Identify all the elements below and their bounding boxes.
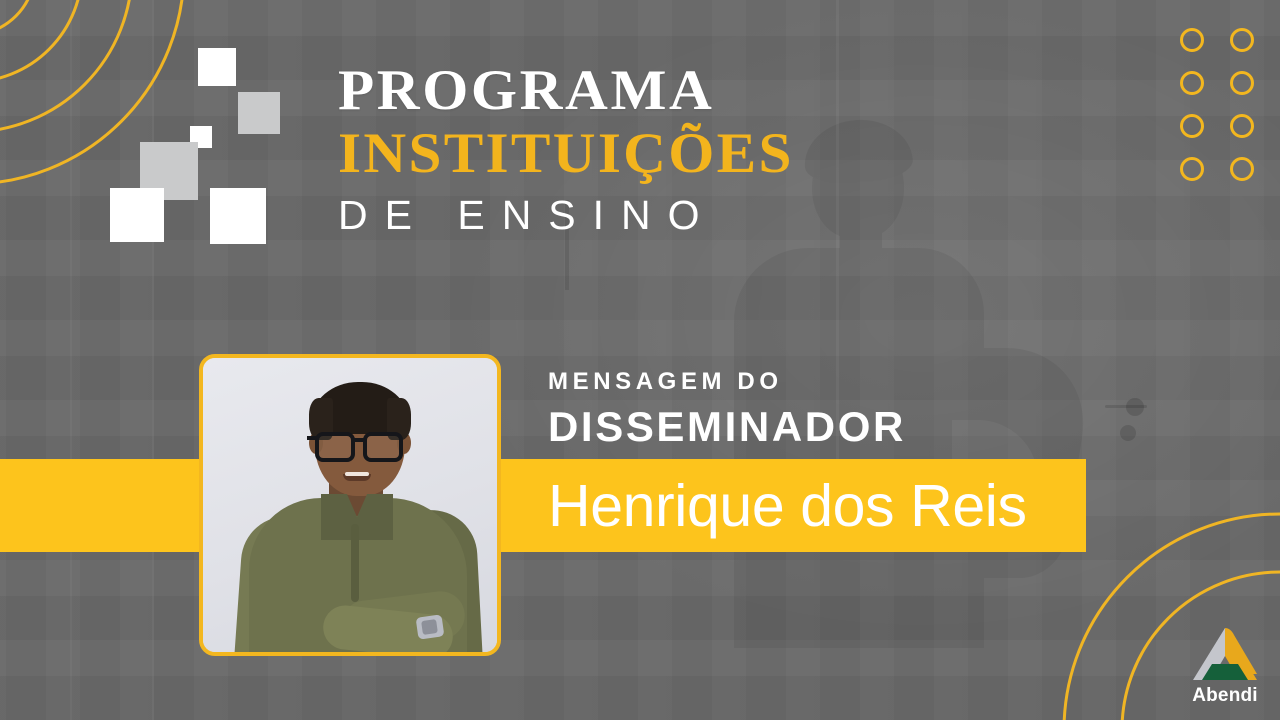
- ring-dot-icon: [1230, 28, 1254, 52]
- ring-dot-icon: [1180, 157, 1204, 181]
- portrait-subject: [203, 358, 501, 656]
- ring-dot-icon: [1230, 157, 1254, 181]
- ring-dot-icon: [1180, 71, 1204, 95]
- portrait-photo: [199, 354, 501, 656]
- headline-line-de-ensino: DE ENSINO: [338, 194, 1098, 237]
- ring-dot-icon: [1180, 28, 1204, 52]
- mosaic-tile: [210, 188, 266, 244]
- mosaic-tile: [198, 48, 236, 86]
- eyeglasses-icon: [363, 432, 403, 462]
- message-heading: MENSAGEM DO DISSEMINADOR: [548, 370, 906, 448]
- slide-canvas: PROGRAMA INSTITUIÇÕES DE ENSINO: [0, 0, 1280, 720]
- ring-dot-grid-icon: [1180, 28, 1280, 200]
- ring-dot-icon: [1230, 71, 1254, 95]
- ring-dot-icon: [1180, 114, 1204, 138]
- abendi-wordmark: Abendi: [1179, 685, 1271, 707]
- mosaic-squares-icon: [110, 48, 280, 230]
- speaker-name: Henrique dos Reis: [548, 459, 1088, 552]
- background-slider-knob-icon: [1126, 398, 1144, 416]
- abendi-triangle-icon: [1179, 626, 1271, 684]
- eyeglasses-icon: [315, 432, 355, 462]
- message-eyebrow: MENSAGEM DO: [548, 370, 906, 394]
- mosaic-tile: [110, 188, 164, 242]
- mosaic-tile: [238, 92, 280, 134]
- headline-line-instituicoes: INSTITUIÇÕES: [338, 123, 1128, 185]
- abendi-logo: Abendi: [1179, 626, 1271, 710]
- message-title: DISSEMINADOR: [548, 406, 906, 448]
- background-dot-icon: [1120, 425, 1136, 441]
- program-headline: PROGRAMA INSTITUIÇÕES DE ENSINO: [338, 62, 1098, 237]
- headline-line-programa: PROGRAMA: [338, 62, 1128, 119]
- ring-dot-icon: [1230, 114, 1254, 138]
